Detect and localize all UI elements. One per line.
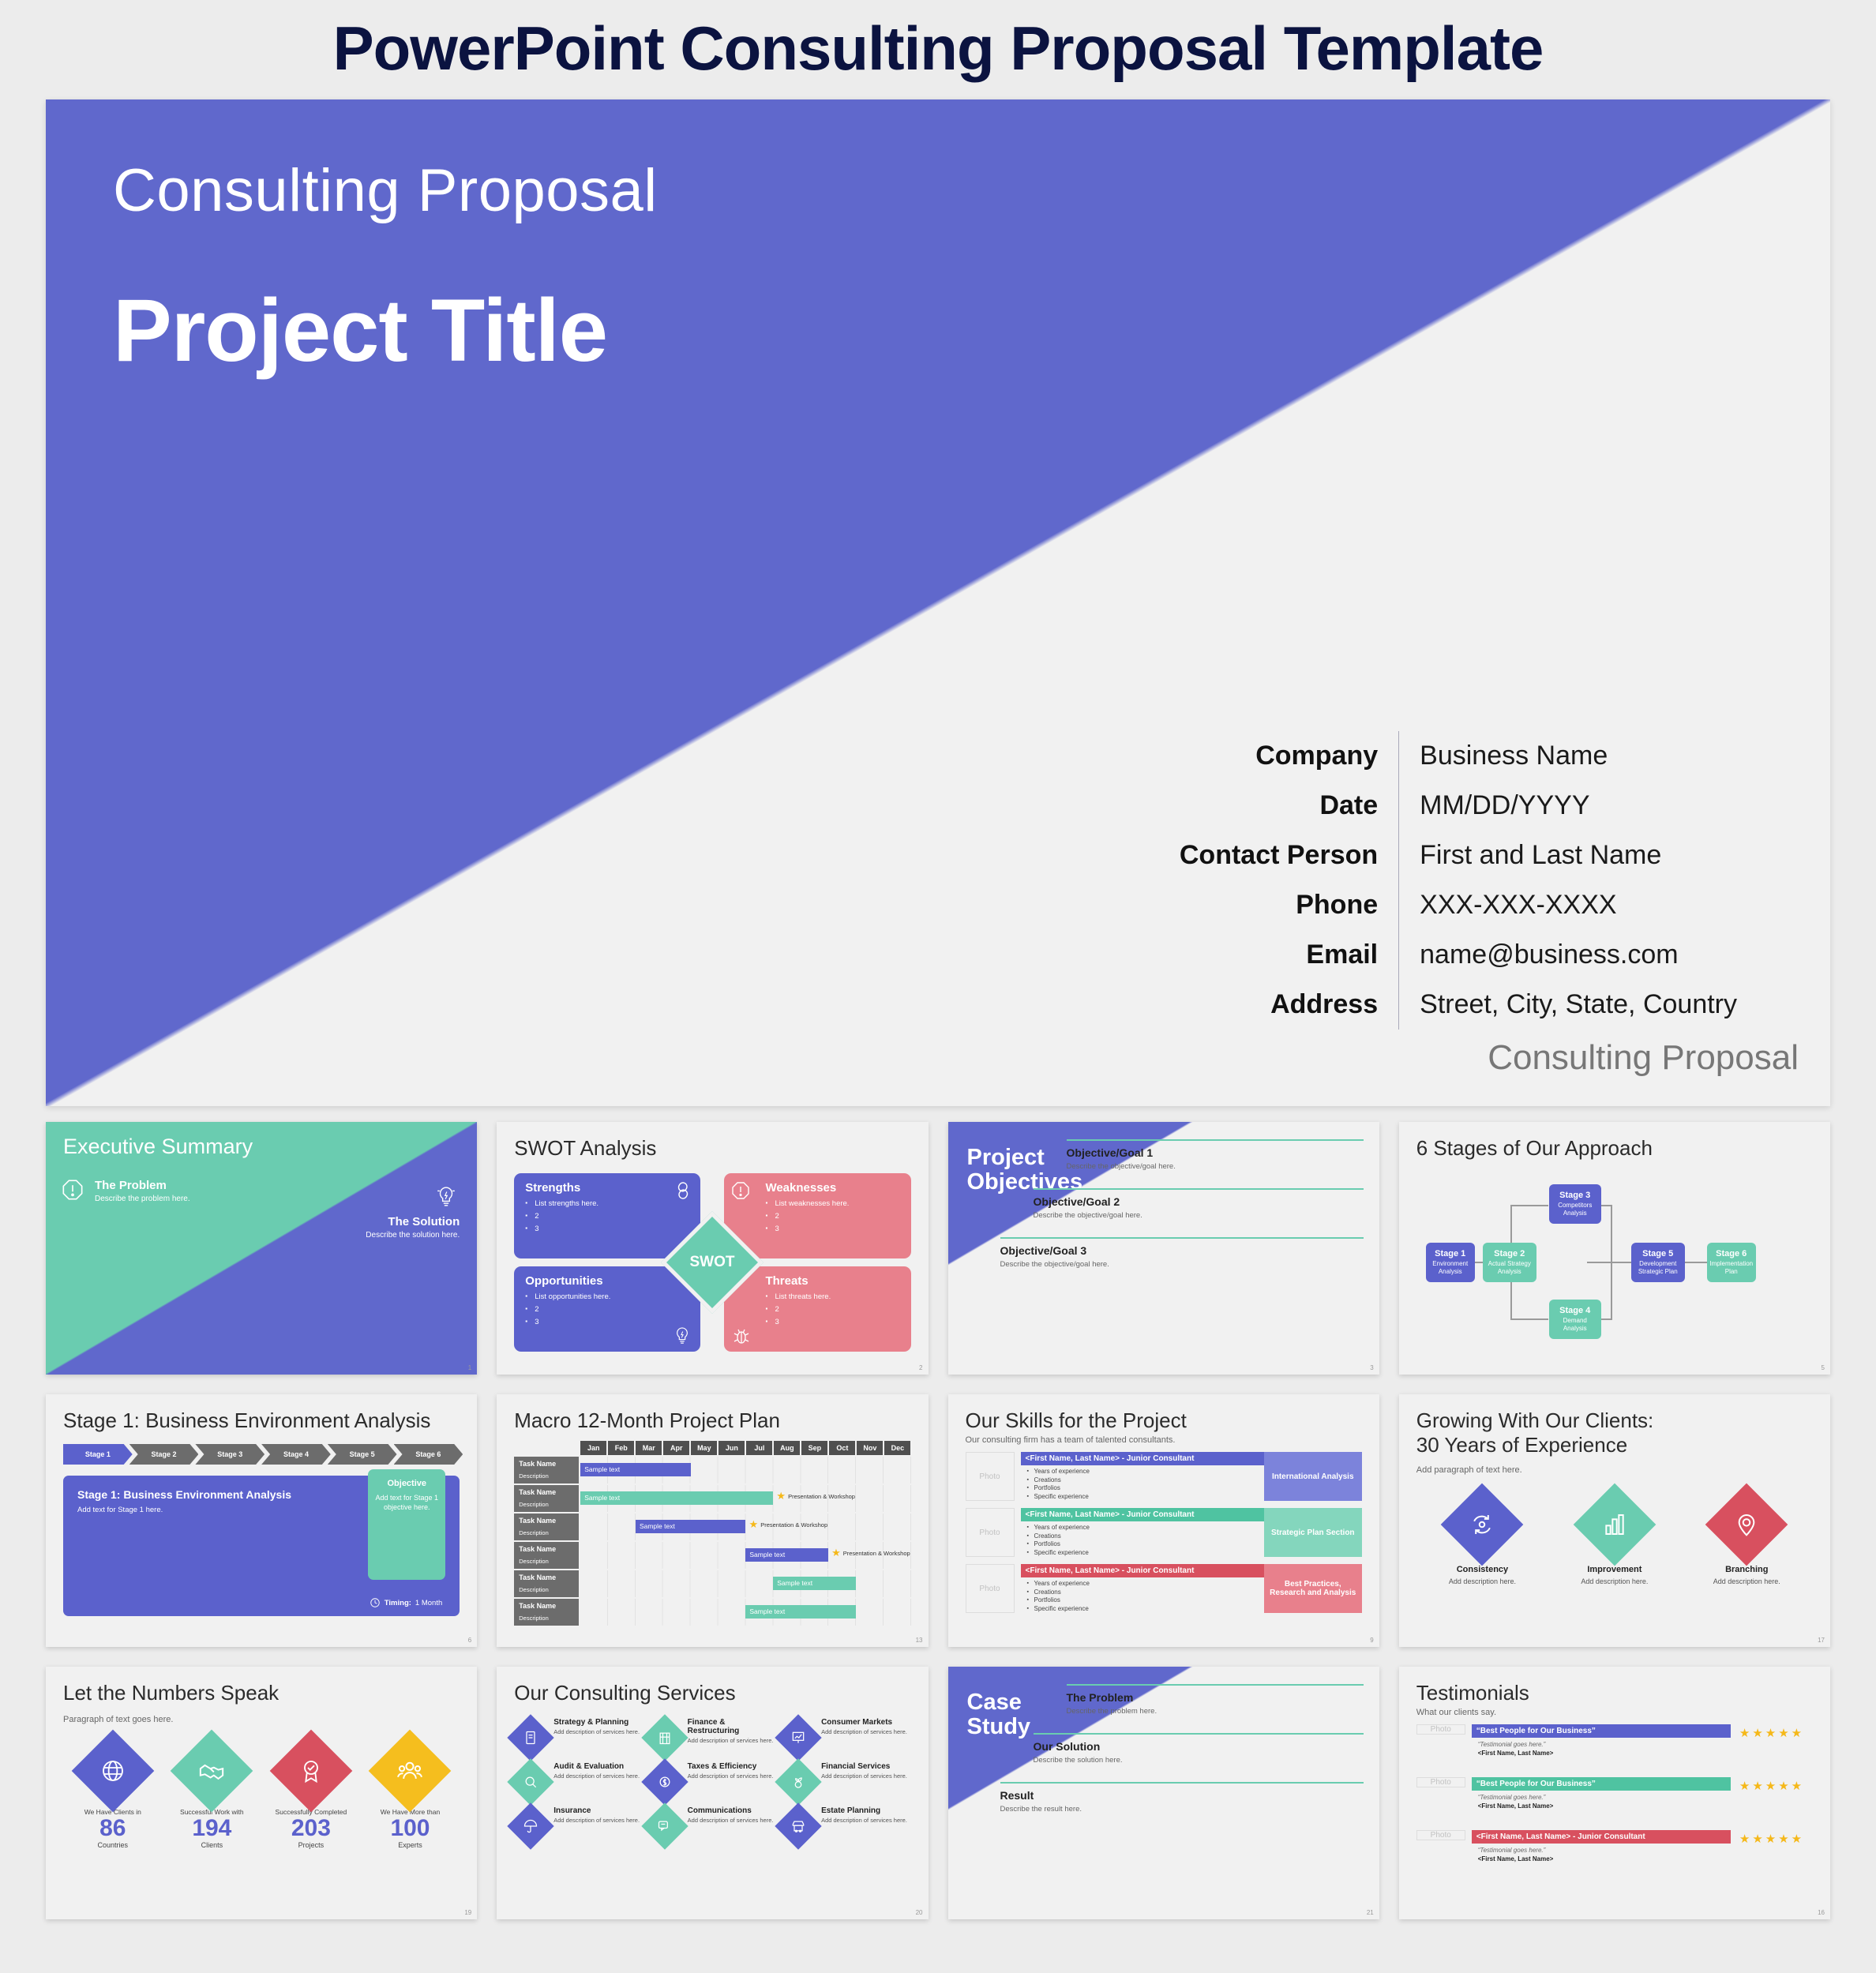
stat-unit: Experts <box>363 1841 456 1849</box>
consultant-row[interactable]: Photo<First Name, Last Name> - Junior Co… <box>966 1564 1362 1613</box>
chat-bubble-icon <box>657 1818 673 1834</box>
task-name: Task Name <box>519 1545 574 1553</box>
gantt-row: Task NameDescriptionSample text★Presenta… <box>514 1514 910 1540</box>
photo-placeholder[interactable]: Photo <box>1416 1777 1465 1787</box>
diamond-shape <box>508 1758 554 1805</box>
testimonial-details: “Best People for Our Business”“Testimoni… <box>1472 1777 1731 1810</box>
divider <box>1000 1782 1364 1784</box>
photo-placeholder[interactable]: Photo <box>1416 1724 1465 1735</box>
slide-testimonials[interactable]: Testimonials What our clients say. Photo… <box>1399 1667 1830 1919</box>
milestone-label: Presentation & Workshop <box>788 1493 855 1500</box>
service-heading: Strategy & Planning <box>553 1718 640 1727</box>
service-heading: Communications <box>688 1806 774 1815</box>
diagonal-split <box>46 1122 477 1375</box>
slide-title: Case Study <box>967 1690 1031 1740</box>
page-number: 21 <box>1367 1909 1374 1916</box>
list-item: 3 <box>765 1225 899 1233</box>
month-cell: Sep <box>801 1441 827 1455</box>
stat-value: 100 <box>363 1816 456 1841</box>
gantt-bar[interactable]: Sample text <box>580 1491 773 1505</box>
contact-value-address: Street, City, State, Country <box>1399 980 1737 1030</box>
service-description: Add description of services here. <box>688 1772 774 1780</box>
swot-quadrant-threats[interactable]: Threats List threats here. 2 3 <box>724 1266 910 1352</box>
lightbulb-icon <box>436 1185 456 1209</box>
testimonial-headline: <First Name, Last Name> - Junior Consult… <box>1472 1830 1731 1844</box>
list-item: Portfolios <box>1027 1596 1264 1605</box>
month-cell: Oct <box>829 1441 855 1455</box>
photo-placeholder[interactable]: Photo <box>966 1564 1015 1613</box>
list-item: Specific experience <box>1027 1549 1264 1558</box>
divider <box>1034 1733 1364 1735</box>
feature-heading: Branching <box>1699 1565 1794 1574</box>
flow-node-stage-6[interactable]: Stage 6 Implementation Plan <box>1707 1243 1756 1282</box>
flow-node-stage-2[interactable]: Stage 2 Actual Strategy Analysis <box>1483 1243 1536 1282</box>
task-name: Task Name <box>519 1574 574 1581</box>
chevron-stage-4[interactable]: Stage 4 <box>261 1444 331 1465</box>
page-number: 6 <box>468 1637 471 1644</box>
month-cell: Jul <box>746 1441 772 1455</box>
skill-list: Years of experienceCreationsPortfoliosSp… <box>1021 1468 1264 1501</box>
service-heading: Audit & Evaluation <box>553 1762 640 1771</box>
gantt-track: Sample text <box>580 1457 910 1484</box>
consultant-details: <First Name, Last Name> - Junior Consult… <box>1021 1508 1264 1557</box>
star-icon: ★ <box>749 1518 759 1531</box>
slide-stage-1[interactable]: Stage 1: Business Environment Analysis S… <box>46 1394 477 1647</box>
gantt-task-cell: Task NameDescription <box>514 1599 579 1626</box>
flow-line <box>1510 1318 1548 1320</box>
flow-line <box>1611 1205 1612 1263</box>
contact-value-date: MM/DD/YYYY <box>1399 781 1737 831</box>
hero-footer-label: Consulting Proposal <box>1488 1038 1799 1078</box>
service-text: Finance & RestructuringAdd description o… <box>688 1718 777 1744</box>
lightbulb-icon <box>673 1326 691 1345</box>
photo-placeholder[interactable]: Photo <box>966 1452 1015 1501</box>
objective-heading: Objective <box>387 1479 426 1488</box>
testimonial-details: “Best People for Our Business”“Testimoni… <box>1472 1724 1731 1757</box>
node-desc: Environment Analysis <box>1428 1260 1473 1276</box>
plant-coin-icon <box>790 1774 806 1790</box>
objective-text: Describe the objective/goal here. <box>1000 1260 1364 1269</box>
swot-quadrant-weaknesses[interactable]: Weaknesses List weaknesses here. 2 3 <box>724 1173 910 1258</box>
objective-text: Add text for Stage 1 objective here. <box>373 1494 441 1512</box>
service-item[interactable]: CommunicationsAdd description of service… <box>648 1806 777 1843</box>
consultant-name: <First Name, Last Name> - Junior Consult… <box>1021 1564 1264 1577</box>
task-description: Description <box>519 1615 549 1622</box>
diamond-shape <box>1705 1484 1788 1566</box>
store-icon <box>790 1818 806 1834</box>
stat-value: 203 <box>265 1816 358 1841</box>
testimonial-quote: “Testimonial goes here.” <box>1472 1741 1731 1748</box>
list-item: Creations <box>1027 1589 1264 1597</box>
service-item[interactable]: Audit & EvaluationAdd description of ser… <box>514 1762 643 1799</box>
section-text: Describe the solution here. <box>1034 1756 1364 1765</box>
list-item: 2 <box>765 1305 899 1314</box>
diamond-shape <box>508 1802 554 1849</box>
consultant-row[interactable]: Photo<First Name, Last Name> - Junior Co… <box>966 1508 1362 1557</box>
swot-matrix: Strengths List strengths here. 2 3 Weakn… <box>514 1173 910 1352</box>
link-chain-icon <box>673 1181 692 1200</box>
stat-value: 194 <box>165 1816 258 1841</box>
gantt-row: Task NameDescriptionSample text <box>514 1599 910 1626</box>
objective-panel: Objective Add text for Stage 1 objective… <box>368 1469 445 1580</box>
stat-unit: Projects <box>265 1841 358 1849</box>
quadrant-heading: Opportunities <box>525 1274 689 1288</box>
slide-title: Testimonials <box>1416 1681 1813 1705</box>
gantt-bar[interactable]: Sample text <box>773 1577 856 1590</box>
node-title: Stage 5 <box>1634 1249 1683 1258</box>
task-description: Description <box>519 1586 549 1593</box>
month-cell: Aug <box>774 1441 800 1455</box>
diamond-shape <box>71 1730 154 1813</box>
timing-label: Timing: <box>385 1599 411 1607</box>
service-text: Consumer MarketsAdd description of servi… <box>821 1718 907 1735</box>
service-item[interactable]: InsuranceAdd description of services her… <box>514 1806 643 1843</box>
list-item: Specific experience <box>1027 1493 1264 1502</box>
testimonial-row[interactable]: Photo<First Name, Last Name> - Junior Co… <box>1416 1830 1813 1876</box>
case-section[interactable]: The Problem Describe the problem here. <box>1067 1684 1364 1716</box>
gantt-task-cell: Task NameDescription <box>514 1457 579 1484</box>
slide-title: Our Skills for the Project <box>966 1408 1362 1433</box>
hero-subtitle: Consulting Proposal <box>113 156 658 225</box>
stat-item[interactable]: Successful Work with 194 Clients <box>165 1742 258 1849</box>
service-text: Strategy & PlanningAdd description of se… <box>553 1718 640 1735</box>
list-item: Years of experience <box>1027 1580 1264 1589</box>
gantt-bar[interactable]: Sample text <box>745 1605 855 1619</box>
page-number: 16 <box>1818 1909 1825 1916</box>
service-heading: Financial Services <box>821 1762 907 1771</box>
slide-macro-12-month-plan[interactable]: Macro 12-Month Project Plan Jan Feb Mar … <box>497 1394 928 1647</box>
slide-case-study[interactable]: Case Study The Problem Describe the prob… <box>948 1667 1379 1919</box>
service-item[interactable]: Taxes & EfficiencyAdd description of ser… <box>648 1762 777 1799</box>
chevron-stage-5[interactable]: Stage 5 <box>328 1444 397 1465</box>
building-icon <box>657 1730 673 1746</box>
section-heading: Our Solution <box>1034 1740 1364 1753</box>
task-name: Task Name <box>519 1602 574 1610</box>
task-description: Description <box>519 1558 549 1565</box>
gantt-row: Task NameDescriptionSample text <box>514 1457 910 1484</box>
gantt-bar[interactable]: Sample text <box>636 1520 745 1533</box>
service-item[interactable]: Strategy & PlanningAdd description of se… <box>514 1718 643 1754</box>
list-item: 3 <box>765 1318 899 1326</box>
slide-executive-summary[interactable]: Executive Summary The Problem Describe t… <box>46 1122 477 1375</box>
presentation-chart-icon <box>790 1730 806 1746</box>
slide-title: Let the Numbers Speak <box>63 1681 460 1705</box>
service-text: Estate PlanningAdd description of servic… <box>821 1806 907 1824</box>
service-heading: Consumer Markets <box>821 1718 907 1727</box>
feature-item[interactable]: Improvement Add description here. <box>1567 1495 1662 1585</box>
chevron-stage-2[interactable]: Stage 2 <box>129 1444 199 1465</box>
contact-label-company: Company <box>1180 731 1398 781</box>
page-number: 20 <box>916 1909 923 1916</box>
list-item: Years of experience <box>1027 1468 1264 1476</box>
testimonial-author: <First Name, Last Name> <box>1472 1750 1731 1757</box>
slide-subtitle: What our clients say. <box>1416 1708 1813 1717</box>
swot-quadrant-strengths[interactable]: Strengths List strengths here. 2 3 <box>514 1173 700 1258</box>
feature-diamonds: Consistency Add description here. Improv… <box>1416 1495 1813 1585</box>
service-item[interactable]: Finance & RestructuringAdd description o… <box>648 1718 777 1754</box>
service-text: Taxes & EfficiencyAdd description of ser… <box>688 1762 774 1780</box>
gantt-month-header: Jan Feb Mar Apr May Jun Jul Aug Sep Oct … <box>580 1441 910 1455</box>
stage-body-panel: Stage 1: Business Environment Analysis A… <box>63 1476 460 1616</box>
page-number: 5 <box>1822 1364 1825 1371</box>
service-item[interactable]: Consumer MarketsAdd description of servi… <box>782 1718 910 1754</box>
consultant-row[interactable]: Photo<First Name, Last Name> - Junior Co… <box>966 1452 1362 1501</box>
testimonial-quote: “Testimonial goes here.” <box>1472 1794 1731 1801</box>
problem-heading: The Problem <box>95 1179 190 1192</box>
solution-text: Describe the solution here. <box>366 1231 460 1240</box>
slide-growing-with-clients[interactable]: Growing With Our Clients: 30 Years of Ex… <box>1399 1394 1830 1647</box>
solution-heading: The Solution <box>366 1215 460 1228</box>
list-item: 2 <box>525 1305 689 1314</box>
list-item: Portfolios <box>1027 1540 1264 1549</box>
section-heading: Result <box>1000 1789 1364 1802</box>
service-heading: Insurance <box>553 1806 640 1815</box>
service-heading: Taxes & Efficiency <box>688 1762 774 1771</box>
contact-label-date: Date <box>1180 781 1398 831</box>
globe-icon <box>100 1758 126 1784</box>
list-item: 2 <box>525 1212 689 1221</box>
feature-text: Add description here. <box>1567 1577 1662 1585</box>
gantt-chart: Jan Feb Mar Apr May Jun Jul Aug Sep Oct … <box>514 1441 910 1626</box>
contact-value-company: Business Name <box>1399 731 1737 781</box>
award-check-icon <box>298 1758 324 1784</box>
flow-line <box>1510 1205 1548 1206</box>
star-rating: ★★★★★ <box>1731 1777 1813 1793</box>
hero-title: Project Title <box>113 279 607 381</box>
gantt-track: Sample text★Presentation & Workshop <box>580 1514 910 1540</box>
node-title: Stage 1 <box>1428 1249 1473 1258</box>
flow-node-stage-3[interactable]: Stage 3 Competitors Analysis <box>1549 1184 1601 1224</box>
contact-value-phone: XXX-XXX-XXXX <box>1399 880 1737 930</box>
task-name: Task Name <box>519 1488 574 1496</box>
contact-label-phone: Phone <box>1180 880 1398 930</box>
timing-value: 1 Month <box>415 1599 442 1607</box>
gantt-row: Task NameDescriptionSample text★Presenta… <box>514 1485 910 1512</box>
case-section[interactable]: Result Describe the result here. <box>1000 1782 1364 1814</box>
gantt-task-cell: Task NameDescription <box>514 1570 579 1597</box>
stat-item[interactable]: We Have More than 100 Experts <box>363 1742 456 1849</box>
clock-icon <box>370 1597 381 1608</box>
star-icon: ★ <box>831 1547 841 1559</box>
feature-item[interactable]: Branching Add description here. <box>1699 1495 1794 1585</box>
chevron-stage-1[interactable]: Stage 1 <box>63 1444 133 1465</box>
testimonial-headline: “Best People for Our Business” <box>1472 1777 1731 1791</box>
testimonial-quote: “Testimonial goes here.” <box>1472 1847 1731 1854</box>
month-cell: Apr <box>663 1441 689 1455</box>
gantt-bar[interactable]: Sample text <box>745 1548 828 1562</box>
page-number: 17 <box>1818 1637 1825 1644</box>
slide-paragraph: Paragraph of text goes here. <box>63 1715 460 1724</box>
objective-text: Describe the objective/goal here. <box>1034 1211 1364 1220</box>
objective-item[interactable]: Objective/Goal 3 Describe the objective/… <box>1000 1237 1364 1269</box>
month-cell: Dec <box>884 1441 910 1455</box>
title-line-1: Case <box>967 1690 1031 1715</box>
quadrant-list: List threats here. 2 3 <box>765 1292 899 1326</box>
problem-block: The Problem Describe the problem here. <box>95 1179 190 1203</box>
node-desc: Competitors Analysis <box>1551 1202 1599 1217</box>
refresh-gear-icon <box>1469 1511 1495 1538</box>
task-name: Task Name <box>519 1460 574 1468</box>
diamond-shape <box>775 1802 821 1849</box>
section-heading: The Problem <box>1067 1691 1364 1704</box>
diamond-shape <box>775 1758 821 1805</box>
service-item[interactable]: Estate PlanningAdd description of servic… <box>782 1806 910 1843</box>
milestone-label: Presentation & Workshop <box>843 1550 910 1557</box>
gantt-track: Sample text★Presentation & Workshop <box>580 1542 910 1569</box>
timing-block: Timing: 1 Month <box>370 1597 442 1608</box>
dollar-refresh-icon <box>657 1774 673 1790</box>
umbrella-icon <box>523 1818 538 1834</box>
objective-item[interactable]: Objective/Goal 2 Describe the objective/… <box>1034 1188 1364 1220</box>
slide-swot-analysis[interactable]: SWOT Analysis Strengths List strengths h… <box>497 1122 928 1375</box>
list-item: Portfolios <box>1027 1484 1264 1493</box>
diamond-shape <box>775 1714 821 1761</box>
diamond-shape <box>1441 1484 1524 1566</box>
stat-unit: Clients <box>165 1841 258 1849</box>
service-description: Add description of services here. <box>553 1817 640 1824</box>
stat-value: 86 <box>66 1816 159 1841</box>
slide-consulting-services[interactable]: Our Consulting Services Strategy & Plann… <box>497 1667 928 1919</box>
contact-label-address: Address <box>1180 980 1398 1030</box>
gantt-milestone: ★Presentation & Workshop <box>776 1490 855 1502</box>
contact-label-email: Email <box>1180 930 1398 980</box>
page-number: 19 <box>464 1909 471 1916</box>
slide-six-stages-approach[interactable]: 6 Stages of Our Approach Stage 1 Environ… <box>1399 1122 1830 1375</box>
objective-item[interactable]: Objective/Goal 1 Describe the objective/… <box>1067 1139 1364 1171</box>
month-cell: Feb <box>608 1441 634 1455</box>
task-name: Task Name <box>519 1517 574 1525</box>
case-section[interactable]: Our Solution Describe the solution here. <box>1034 1733 1364 1765</box>
consultant-name: <First Name, Last Name> - Junior Consult… <box>1021 1452 1264 1465</box>
slide-title-line-1: Growing With Our Clients: <box>1416 1408 1813 1433</box>
contact-value-contact-person: First and Last Name <box>1399 831 1737 880</box>
objective-heading: Objective/Goal 2 <box>1034 1195 1364 1208</box>
testimonial-author: <First Name, Last Name> <box>1472 1855 1731 1862</box>
testimonial-headline: “Best People for Our Business” <box>1472 1724 1731 1738</box>
magnifier-icon <box>523 1774 538 1790</box>
gantt-milestone: ★Presentation & Workshop <box>831 1547 910 1559</box>
flow-node-stage-1[interactable]: Stage 1 Environment Analysis <box>1426 1243 1475 1282</box>
chevron-stage-3[interactable]: Stage 3 <box>195 1444 265 1465</box>
slide-project-objectives[interactable]: Project Objectives Objective/Goal 1 Desc… <box>948 1122 1379 1375</box>
testimonial-details: <First Name, Last Name> - Junior Consult… <box>1472 1830 1731 1862</box>
divider <box>1067 1684 1364 1686</box>
title-line-1: Project <box>967 1146 1083 1170</box>
gantt-task-cell: Task NameDescription <box>514 1485 579 1512</box>
diamond-shape <box>641 1802 688 1849</box>
bar-chart-icon <box>1602 1512 1627 1537</box>
feature-heading: Improvement <box>1567 1565 1662 1574</box>
feature-heading: Consistency <box>1435 1565 1529 1574</box>
page-title: PowerPoint Consulting Proposal Template <box>0 0 1876 99</box>
photo-placeholder[interactable]: Photo <box>966 1508 1015 1557</box>
diamond-shape <box>1574 1484 1657 1566</box>
diamond-shape <box>171 1730 253 1813</box>
swot-quadrant-opportunities[interactable]: Opportunities List opportunities here. 2… <box>514 1266 700 1352</box>
divider <box>1034 1188 1364 1190</box>
section-text: Describe the result here. <box>1000 1805 1364 1814</box>
testimonial-author: <First Name, Last Name> <box>1472 1802 1731 1810</box>
node-desc: Implementation Plan <box>1709 1260 1754 1276</box>
gantt-row: Task NameDescriptionSample text <box>514 1570 910 1597</box>
gantt-row: Task NameDescriptionSample text★Presenta… <box>514 1542 910 1569</box>
testimonial-row[interactable]: Photo“Best People for Our Business”“Test… <box>1416 1777 1813 1823</box>
photo-placeholder[interactable]: Photo <box>1416 1830 1465 1840</box>
page-number: 2 <box>919 1364 922 1371</box>
service-item[interactable]: Financial ServicesAdd description of ser… <box>782 1762 910 1799</box>
slide-our-skills[interactable]: Our Skills for the Project Our consultin… <box>948 1394 1379 1647</box>
service-text: InsuranceAdd description of services her… <box>553 1806 640 1824</box>
list-item: 3 <box>525 1318 689 1326</box>
slide-paragraph: Add paragraph of text here. <box>1416 1465 1813 1475</box>
objective-text: Describe the objective/goal here. <box>1067 1162 1364 1171</box>
task-description: Description <box>519 1472 549 1480</box>
node-desc: Development Strategic Plan <box>1634 1260 1683 1276</box>
specialty-tag: Best Practices, Research and Analysis <box>1264 1564 1362 1613</box>
gantt-bar[interactable]: Sample text <box>580 1463 690 1476</box>
service-description: Add description of services here. <box>688 1817 774 1824</box>
service-description: Add description of services here. <box>821 1728 907 1735</box>
stat-item[interactable]: We Have Clients in 86 Countries <box>66 1742 159 1849</box>
service-description: Add description of services here. <box>821 1817 907 1824</box>
slide-title: Our Consulting Services <box>514 1681 910 1705</box>
milestone-label: Presentation & Workshop <box>760 1521 827 1529</box>
node-title: Stage 3 <box>1551 1191 1599 1200</box>
skill-list: Years of experienceCreationsPortfoliosSp… <box>1021 1524 1264 1557</box>
objective-heading: Objective/Goal 1 <box>1067 1146 1364 1159</box>
flow-line <box>1611 1262 1612 1320</box>
testimonial-row[interactable]: Photo“Best People for Our Business”“Test… <box>1416 1724 1813 1770</box>
gantt-task-cell: Task NameDescription <box>514 1514 579 1540</box>
problem-text: Describe the problem here. <box>95 1195 190 1203</box>
node-title: Stage 4 <box>1551 1306 1599 1315</box>
star-rating: ★★★★★ <box>1731 1724 1813 1740</box>
slide-title: Executive Summary <box>63 1135 253 1159</box>
service-text: Financial ServicesAdd description of ser… <box>821 1762 907 1780</box>
chevron-stage-6[interactable]: Stage 6 <box>394 1444 463 1465</box>
month-cell: Nov <box>857 1441 883 1455</box>
quadrant-heading: Weaknesses <box>765 1181 899 1195</box>
slide-let-numbers-speak[interactable]: Let the Numbers Speak Paragraph of text … <box>46 1667 477 1919</box>
month-cell: Mar <box>636 1441 662 1455</box>
list-item: List opportunities here. <box>525 1292 689 1301</box>
node-title: Stage 2 <box>1485 1249 1534 1258</box>
process-flow-diagram: Stage 1 Environment Analysis Stage 2 Act… <box>1416 1170 1813 1352</box>
alert-octagon-icon <box>62 1179 84 1201</box>
swot-center-label: SWOT <box>680 1230 745 1295</box>
skills-list: Photo<First Name, Last Name> - Junior Co… <box>966 1452 1362 1613</box>
service-description: Add description of services here. <box>553 1772 640 1780</box>
solution-block: The Solution Describe the solution here. <box>366 1215 460 1240</box>
hero-slide[interactable]: Consulting Proposal Project Title Compan… <box>46 99 1830 1106</box>
flow-node-stage-4[interactable]: Stage 4 Demand Analysis <box>1549 1300 1601 1339</box>
list-item: 2 <box>765 1212 899 1221</box>
slide-title: Macro 12-Month Project Plan <box>514 1408 910 1433</box>
stat-item[interactable]: Successfully Completed 203 Projects <box>265 1742 358 1849</box>
page-number: 1 <box>468 1364 471 1371</box>
quadrant-list: List strengths here. 2 3 <box>525 1199 689 1233</box>
quadrant-heading: Strengths <box>525 1181 689 1195</box>
star-rating: ★★★★★ <box>1731 1830 1813 1846</box>
stat-unit: Countries <box>66 1841 159 1849</box>
divider <box>1000 1237 1364 1239</box>
list-item: Years of experience <box>1027 1524 1264 1532</box>
slide-title: Stage 1: Business Environment Analysis <box>63 1408 460 1433</box>
list-item: List strengths here. <box>525 1199 689 1208</box>
flow-node-stage-5[interactable]: Stage 5 Development Strategic Plan <box>1631 1243 1685 1282</box>
feature-item[interactable]: Consistency Add description here. <box>1435 1495 1529 1585</box>
title-line-2: Study <box>967 1715 1031 1739</box>
